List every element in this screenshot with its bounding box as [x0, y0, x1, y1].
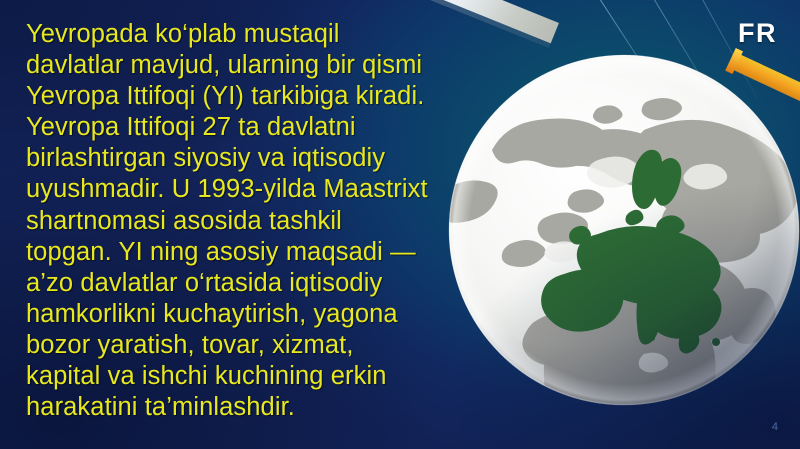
presentation-slide: Yevropada ko‘plab mustaqil davlatlar mav… — [0, 0, 800, 449]
fr-logo: FR — [738, 18, 777, 49]
slide-body-text: Yevropada ko‘plab mustaqil davlatlar mav… — [26, 19, 434, 423]
page-number: 4 — [772, 421, 778, 433]
